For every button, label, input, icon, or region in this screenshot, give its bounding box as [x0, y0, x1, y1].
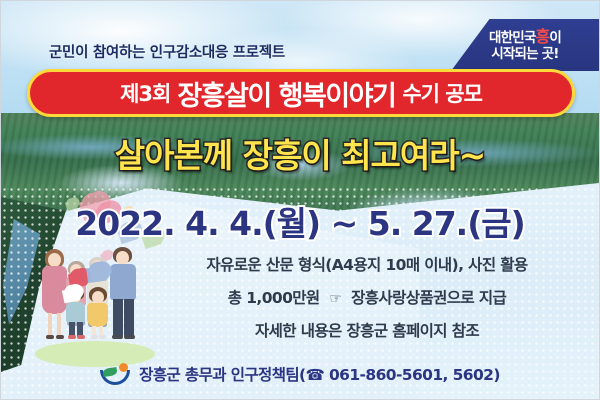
title-prefix: 제3회 [120, 78, 170, 108]
title-suffix: 수기 공모 [402, 78, 482, 108]
slogan-headline: 살아본께 장흥이 최고여라~ [1, 129, 599, 177]
details-block: 자유로운 산문 형식(A4용지 10매 이내), 사진 활용 총 1,000만원… [151, 253, 583, 341]
badge-highlight-char: 흥 [535, 27, 549, 46]
poster-root: 군민이 참여하는 인구감소대응 프로젝트 대한민국흥이 시작되는 곳! 제3회 … [0, 0, 600, 400]
badge-line-2: 시작되는 곳! [491, 47, 558, 61]
prize-amount: 총 1,000만원 [228, 289, 320, 307]
submission-period: 2022. 4. 4.(월) ~ 5. 27.(금) [1, 197, 599, 245]
detail-line-prize: 총 1,000만원 ☞ 장흥사랑상품권으로 지급 [228, 286, 506, 308]
detail-line-reference: 자세한 내용은 장흥군 홈페이지 참조 [255, 319, 479, 341]
project-subtitle: 군민이 참여하는 인구감소대응 프로젝트 [49, 41, 285, 62]
badge-text-after: 이 [549, 30, 561, 46]
jangheung-county-logo-icon [100, 363, 130, 385]
badge-text-before: 대한민국 [489, 30, 535, 46]
badge-line-1: 대한민국흥이 [489, 29, 561, 46]
contact-info: 장흥군 총무과 인구정책팀(☎ 061-860-5601, 5602) [139, 363, 500, 385]
family-illustration [39, 247, 151, 365]
footer-bar: 장흥군 총무과 인구정책팀(☎ 061-860-5601, 5602) [1, 363, 599, 385]
pointing-hand-icon: ☞ [324, 291, 346, 307]
blue-heart-prop [86, 266, 106, 283]
prize-method: 장흥사랑상품권으로 지급 [351, 289, 506, 307]
title-main: 장흥살이 행복이야기 [177, 74, 395, 113]
detail-line-format: 자유로운 산문 형식(A4용지 10매 이내), 사진 활용 [206, 253, 527, 275]
title-banner: 제3회 장흥살이 행복이야기 수기 공모 [27, 69, 575, 117]
